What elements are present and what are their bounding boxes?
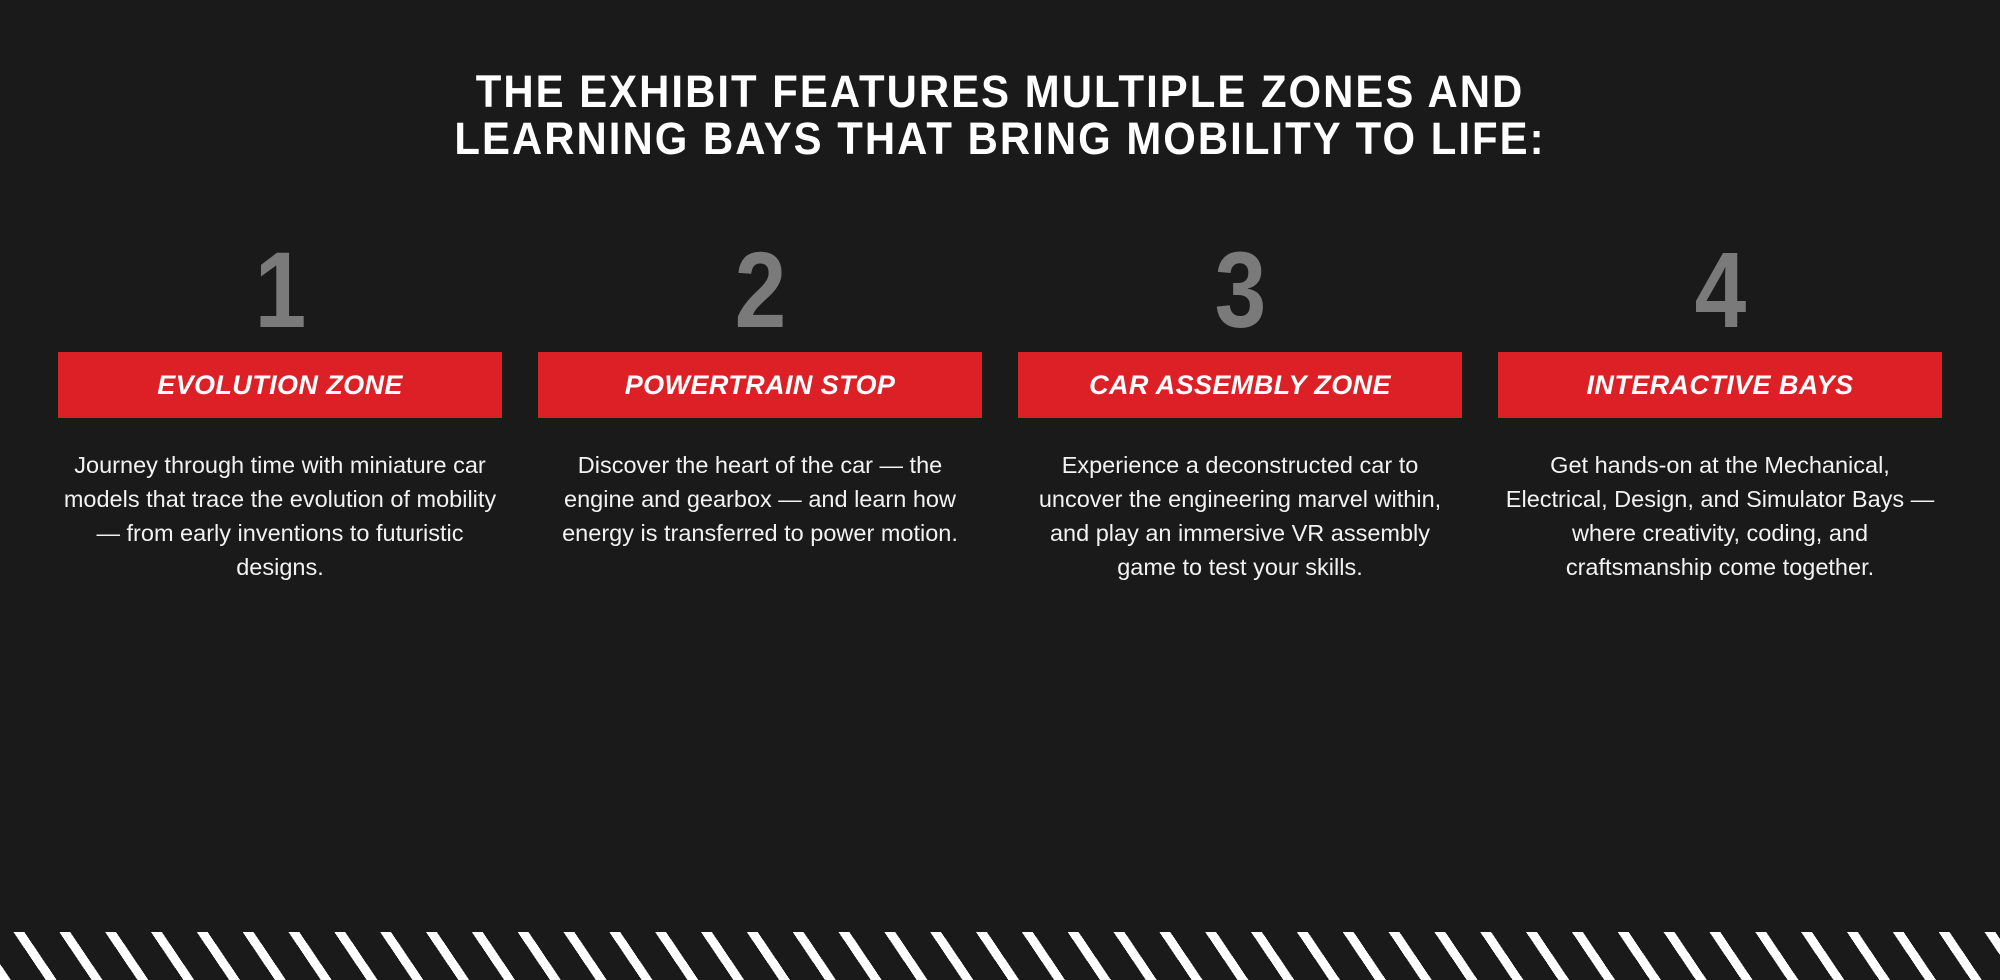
zone-description-3: Experience a deconstructed car to uncove… bbox=[1018, 448, 1462, 584]
zone-columns: 1 EVOLUTION ZONE Journey through time wi… bbox=[58, 236, 1942, 584]
page-title: THE EXHIBIT FEATURES MULTIPLE ZONES AND … bbox=[70, 68, 1930, 163]
zone-badge-evolution-zone[interactable]: EVOLUTION ZONE bbox=[58, 352, 502, 418]
zone-column-2: 2 POWERTRAIN STOP Discover the heart of … bbox=[538, 236, 982, 550]
zone-number-2: 2 bbox=[569, 236, 951, 348]
zone-number-3: 3 bbox=[1049, 236, 1431, 348]
page-title-line-2: LEARNING BAYS THAT BRING MOBILITY TO LIF… bbox=[70, 115, 1930, 162]
zone-column-1: 1 EVOLUTION ZONE Journey through time wi… bbox=[58, 236, 502, 584]
page-title-line-1: THE EXHIBIT FEATURES MULTIPLE ZONES AND bbox=[70, 68, 1930, 115]
zone-badge-powertrain-stop[interactable]: POWERTRAIN STOP bbox=[538, 352, 982, 418]
zone-description-1: Journey through time with miniature car … bbox=[58, 448, 502, 584]
zone-number-4: 4 bbox=[1529, 236, 1911, 348]
zone-badge-interactive-bays[interactable]: INTERACTIVE BAYS bbox=[1498, 352, 1942, 418]
zone-description-2: Discover the heart of the car — the engi… bbox=[538, 448, 982, 550]
poster-root: THE EXHIBIT FEATURES MULTIPLE ZONES AND … bbox=[0, 0, 2000, 980]
zone-column-4: 4 INTERACTIVE BAYS Get hands-on at the M… bbox=[1498, 236, 1942, 584]
zone-number-1: 1 bbox=[89, 236, 471, 348]
diagonal-stripe-band bbox=[0, 932, 2000, 980]
zone-column-3: 3 CAR ASSEMBLY ZONE Experience a deconst… bbox=[1018, 236, 1462, 584]
zone-badge-car-assembly-zone[interactable]: CAR ASSEMBLY ZONE bbox=[1018, 352, 1462, 418]
zone-description-4: Get hands-on at the Mechanical, Electric… bbox=[1498, 448, 1942, 584]
